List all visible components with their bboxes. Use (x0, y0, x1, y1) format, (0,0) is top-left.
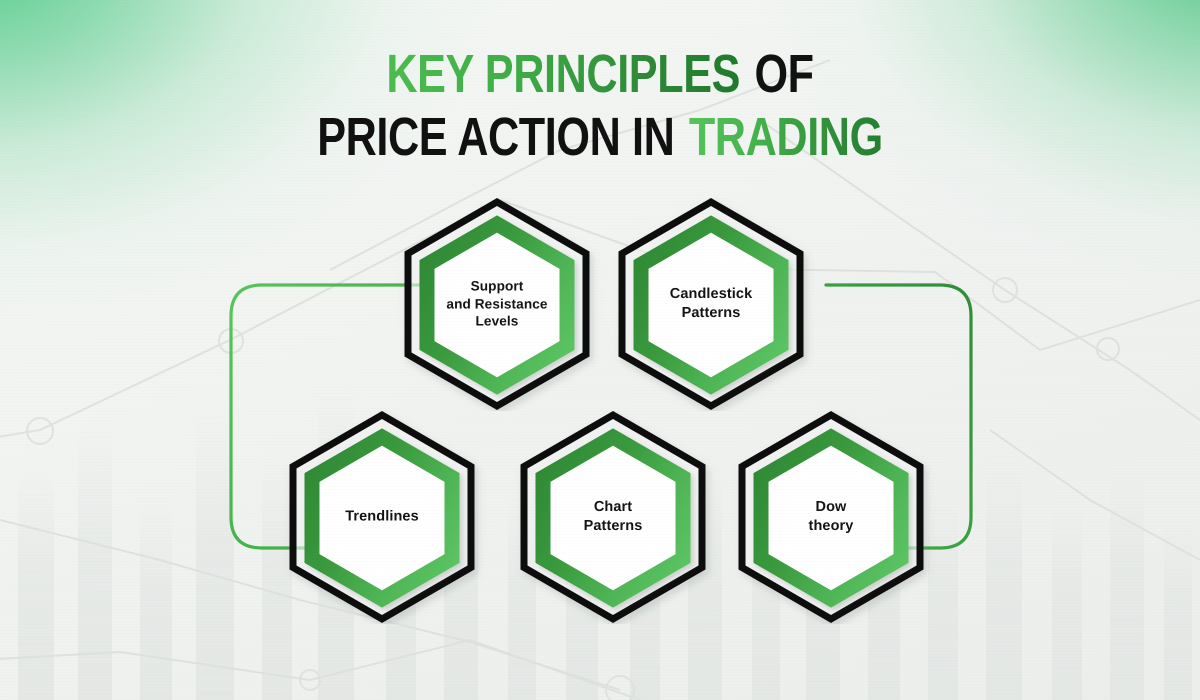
background-texture (0, 0, 1200, 700)
infographic-poster: KEY PRINCIPLESOF PRICE ACTION INTRADING (0, 0, 1200, 700)
